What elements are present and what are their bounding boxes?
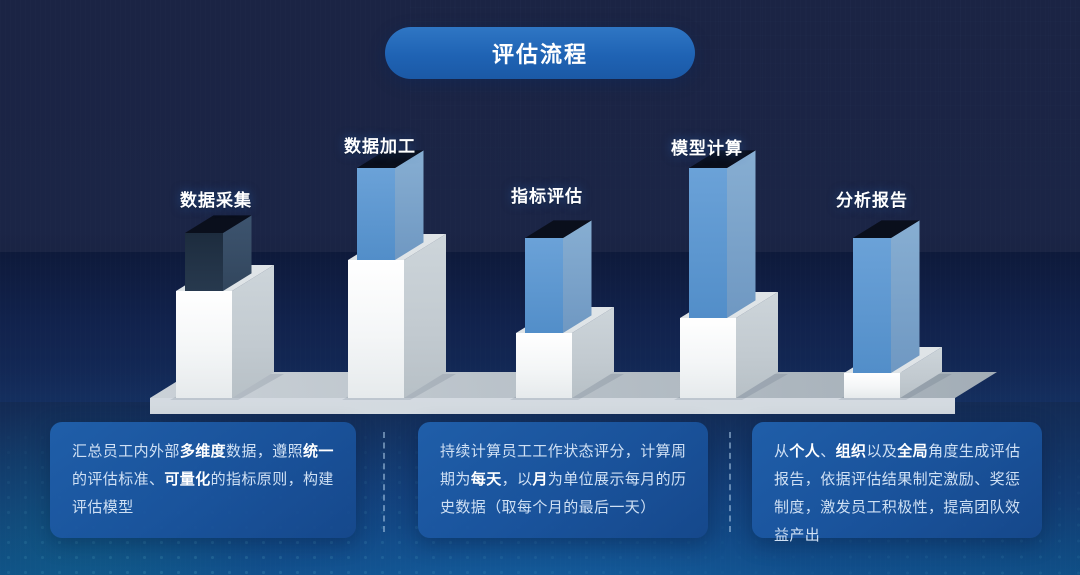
caption-panel-3: 从个人、组织以及全局角度生成评估报告，依据评估结果制定激励、奖惩制度，激发员工积… (752, 422, 1042, 538)
pillar-cap-front-face (357, 168, 395, 260)
pillar-cap-front-face (853, 238, 891, 373)
caption-divider-1 (383, 432, 385, 532)
step-label-4: 模型计算 (671, 134, 743, 159)
caption-panel-1: 汇总员工内外部多维度数据，遵照统一的评估标准、可量化的指标原则，构建评估模型 (50, 422, 356, 538)
infographic-canvas: 评估流程 数据采集数据加工指标评估模型计算分析报告 汇总员工内外部多维度数据，遵… (0, 0, 1080, 575)
pillar-cap-front-face (185, 233, 223, 291)
pillar-cap-side-face (891, 220, 920, 373)
caption-text-3: 从个人、组织以及全局角度生成评估报告，依据评估结果制定激励、奖惩制度，激发员工积… (774, 438, 1022, 550)
pillar-front-face (348, 260, 404, 398)
pillar-front-face (844, 373, 900, 398)
pillar-front-face (680, 318, 736, 398)
step-label-1: 数据采集 (180, 186, 252, 211)
pillar-cap-front-face (525, 238, 563, 333)
pillar-cap-front-face (689, 168, 727, 318)
step-label-5: 分析报告 (836, 186, 908, 211)
step-label-3: 指标评估 (511, 182, 583, 207)
pillar-front-face (516, 333, 572, 398)
pillar-cap-side-face (395, 150, 424, 260)
step-label-2: 数据加工 (344, 132, 416, 157)
pillar-cap-side-face (563, 220, 592, 333)
caption-panel-2: 持续计算员工工作状态评分，计算周期为每天，以月为单位展示每月的历史数据（取每个月… (418, 422, 708, 538)
caption-text-2: 持续计算员工工作状态评分，计算周期为每天，以月为单位展示每月的历史数据（取每个月… (440, 438, 688, 522)
pillar-front-face (176, 291, 232, 398)
pillar-cap-side-face (727, 150, 756, 318)
pillar-side-face (404, 234, 446, 398)
caption-divider-2 (729, 432, 731, 532)
caption-text-1: 汇总员工内外部多维度数据，遵照统一的评估标准、可量化的指标原则，构建评估模型 (72, 438, 336, 522)
ground-front (150, 398, 955, 414)
